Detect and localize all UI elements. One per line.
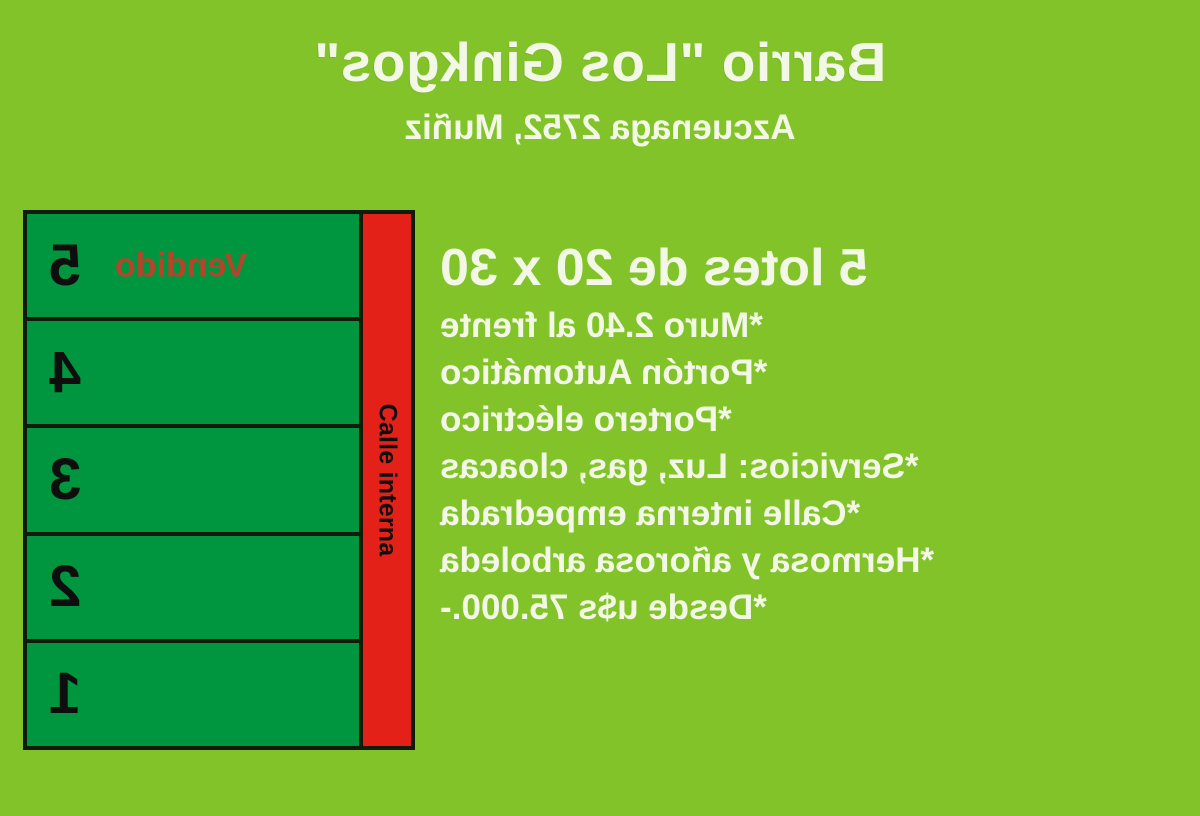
status-badge-sold: Vendido (115, 246, 247, 285)
poster-address: Azcuenaga 2752, Muñiz (0, 92, 1200, 147)
feature-item-wall: *Muro 2.40 al frente (440, 303, 1180, 350)
page-title: Barrio "Los Ginkgos" (0, 0, 1200, 92)
poster-heading-group: Barrio "Los Ginkgos" Azcuenaga 2752, Muñ… (0, 0, 1200, 147)
lot-cell-4: 4 (27, 321, 359, 428)
internal-street-label: Calle interna (373, 404, 402, 557)
lot-cell-3: 3 (27, 428, 359, 535)
feature-item-services: *Servicios: Luz, gas, cloacas (440, 444, 1180, 491)
lot-cell-1: 1 (27, 643, 359, 746)
lots-headline: 5 lotes de 20 x 30 (440, 240, 1180, 297)
lot-number: 4 (49, 344, 81, 402)
lot-cell-2: 2 (27, 536, 359, 643)
feature-item-automatic-gate: *Portón Automático (440, 350, 1180, 397)
lot-plan-diagram: Calle interna Vendido 5 4 3 2 1 (23, 210, 415, 750)
feature-item-cobbled-street: *Calle interna empedrada (440, 491, 1180, 538)
poster-copy-block: 5 lotes de 20 x 30 *Muro 2.40 al frente … (440, 240, 1180, 631)
lot-number: 1 (49, 665, 81, 723)
lot-number: 2 (49, 558, 81, 616)
real-estate-poster: Barrio "Los Ginkgos" Azcuenaga 2752, Muñ… (0, 0, 1200, 816)
lot-column: Vendido 5 4 3 2 1 (27, 214, 359, 746)
lot-cell-5: Vendido 5 (27, 214, 359, 321)
lot-number: 5 (49, 237, 81, 295)
feature-item-electric-doorman: *Portero eléctrico (440, 397, 1180, 444)
feature-item-price: *Desde u$s 75.000.- (440, 585, 1180, 632)
feature-item-trees: *Hermosa y añorosa arboleda (440, 538, 1180, 585)
lot-number: 3 (49, 451, 81, 509)
internal-street-strip: Calle interna (359, 214, 411, 746)
